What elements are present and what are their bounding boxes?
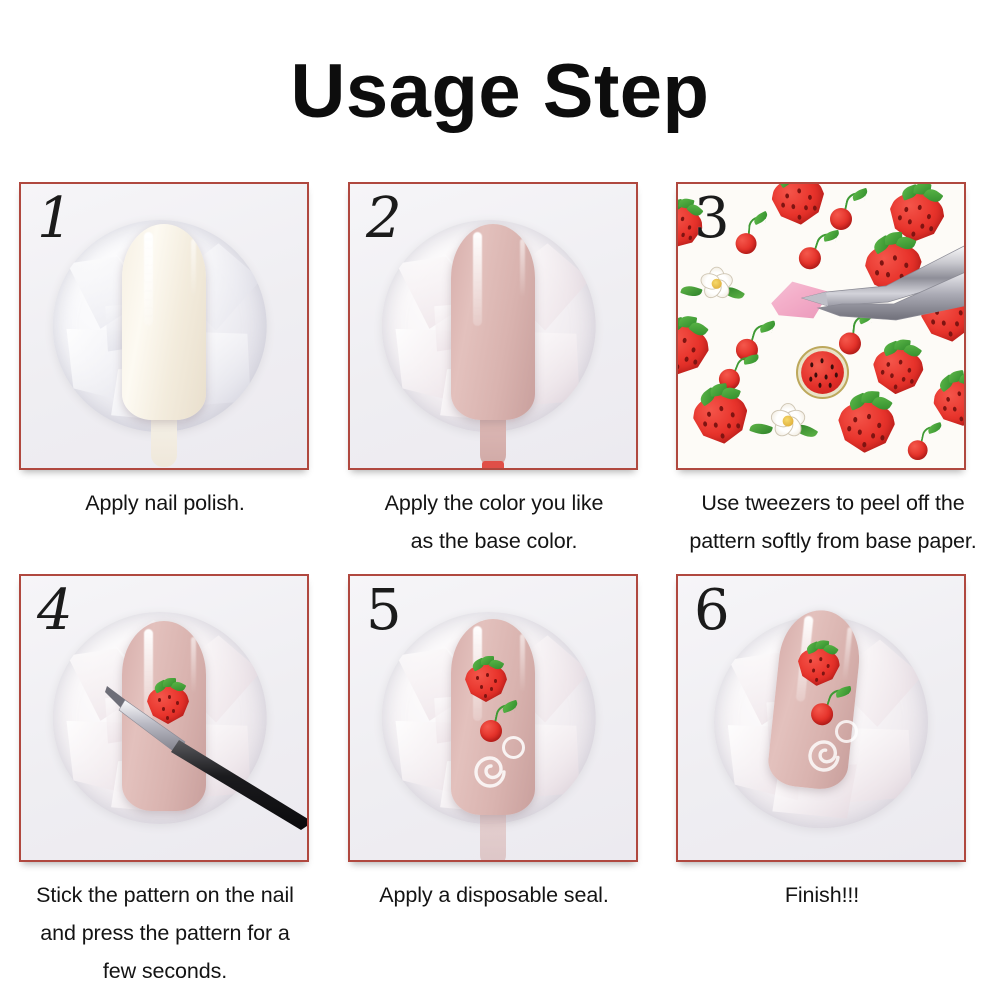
step-number-2: 2 bbox=[366, 188, 402, 250]
strawberry-decal-icon bbox=[463, 654, 509, 702]
caption-line: as the base color. bbox=[329, 522, 659, 560]
dot-decal-icon bbox=[835, 720, 858, 743]
flower-sticker-icon bbox=[766, 400, 809, 441]
caption-line: Stick the pattern on the nail bbox=[0, 876, 330, 914]
caption-line: and press the pattern for a bbox=[0, 914, 330, 952]
step-image-panel-2: 2 bbox=[348, 182, 638, 470]
step-caption-3: Use tweezers to peel off the pattern sof… bbox=[658, 484, 1000, 560]
cherry-sticker-icon bbox=[730, 213, 773, 256]
nail-brush-tool-icon bbox=[105, 680, 307, 830]
step-number-5: 5 bbox=[366, 580, 402, 642]
step-image-panel-1: 1 bbox=[19, 182, 309, 470]
step-caption-6: Finish!!! bbox=[657, 876, 987, 914]
step-cell-2: 2 Apply the color you like as the base c… bbox=[348, 182, 640, 560]
step-cell-5: 5 Apply a disposable seal. bbox=[348, 574, 640, 990]
caption-line: few seconds. bbox=[0, 952, 330, 990]
step-number-1: 1 bbox=[37, 188, 73, 250]
step-number-3: 3 bbox=[694, 188, 730, 250]
page-title: Usage Step bbox=[0, 54, 1000, 130]
strawberry-sticker-icon bbox=[868, 334, 929, 397]
caption-line: pattern softly from base paper. bbox=[658, 522, 1000, 560]
tweezers-icon bbox=[768, 242, 964, 338]
step-image-panel-6: 6 bbox=[676, 574, 966, 862]
caption-line: Apply nail polish. bbox=[19, 484, 311, 522]
strawberry-sticker-icon bbox=[766, 184, 829, 228]
step-cell-1: 1 Apply nail polish. bbox=[19, 182, 311, 560]
caption-line: Apply a disposable seal. bbox=[329, 876, 659, 914]
step-number-4: 4 bbox=[37, 580, 73, 642]
strawberry-sticker-icon bbox=[678, 308, 717, 380]
cherry-sticker-icon bbox=[828, 190, 868, 230]
step-number-6: 6 bbox=[694, 580, 730, 642]
cherry-sticker-icon bbox=[906, 424, 942, 460]
usage-steps-grid: 1 Apply nail polish. bbox=[0, 182, 1000, 990]
nail-tip-icon bbox=[122, 224, 206, 420]
strawberry-sticker-icon bbox=[686, 378, 754, 448]
flower-sticker-icon bbox=[696, 264, 736, 303]
step-caption-4: Stick the pattern on the nail and press … bbox=[0, 876, 330, 990]
step-image-panel-5: 5 bbox=[348, 574, 638, 862]
caption-line: Apply the color you like bbox=[329, 484, 659, 522]
dot-decal-icon bbox=[502, 736, 525, 759]
strawberry-decal-icon bbox=[794, 636, 845, 689]
steps-row-bottom: 4 Stick the pattern on the nail and pres… bbox=[0, 574, 1000, 990]
nail-tip-icon bbox=[451, 224, 535, 420]
strawberry-sticker-icon bbox=[926, 364, 964, 430]
step-cell-6: 6 Finish!!! bbox=[676, 574, 968, 990]
step-caption-5: Apply a disposable seal. bbox=[329, 876, 659, 914]
caption-line: Finish!!! bbox=[657, 876, 987, 914]
step-cell-3: 3 Use tweezers to peel off the pattern s… bbox=[676, 182, 968, 560]
step-cell-4: 4 Stick the pattern on the nail and pres… bbox=[19, 574, 311, 990]
caption-line: Use tweezers to peel off the bbox=[658, 484, 1000, 522]
step-image-panel-4: 4 bbox=[19, 574, 309, 862]
strawberry-sticker-icon bbox=[833, 386, 899, 455]
step-image-panel-3: 3 bbox=[676, 182, 966, 470]
step-caption-2: Apply the color you like as the base col… bbox=[329, 484, 659, 560]
step-caption-1: Apply nail polish. bbox=[19, 484, 311, 522]
steps-row-top: 1 Apply nail polish. bbox=[0, 182, 1000, 560]
